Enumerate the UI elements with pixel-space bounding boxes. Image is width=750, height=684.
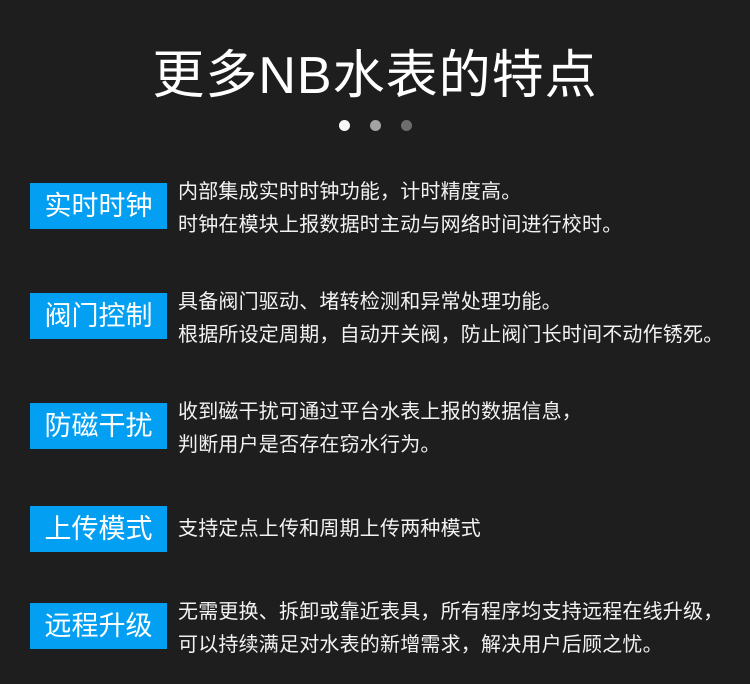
page-title: 更多NB水表的特点 — [0, 0, 750, 107]
feature-description: 收到磁干扰可通过平台水表上报的数据信息， 判断用户是否存在窃水行为。 — [178, 396, 750, 462]
feature-description-line: 时钟在模块上报数据时主动与网络时间进行校时。 — [178, 209, 750, 242]
feature-row: 远程升级 无需更换、拆卸或靠近表具，所有程序均支持远程在线升级， 可以持续满足对… — [0, 596, 750, 662]
carousel-dot-1[interactable] — [339, 120, 350, 131]
feature-badge-anti-magnetic[interactable]: 防磁干扰 — [30, 403, 167, 449]
feature-list: 实时时钟 内部集成实时时钟功能，计时精度高。 时钟在模块上报数据时主动与网络时间… — [0, 176, 750, 662]
feature-row: 实时时钟 内部集成实时时钟功能，计时精度高。 时钟在模块上报数据时主动与网络时间… — [0, 176, 750, 242]
feature-description-line: 判断用户是否存在窃水行为。 — [178, 429, 750, 462]
feature-row: 阀门控制 具备阀门驱动、堵转检测和异常处理功能。 根据所设定周期，自动开关阀，防… — [0, 286, 750, 352]
feature-description: 支持定点上传和周期上传两种模式 — [178, 506, 750, 546]
feature-description-line: 无需更换、拆卸或靠近表具，所有程序均支持远程在线升级， — [178, 596, 750, 629]
carousel-dots[interactable] — [0, 120, 750, 131]
feature-badge-upload-mode[interactable]: 上传模式 — [30, 506, 167, 552]
feature-badge-realtime-clock[interactable]: 实时时钟 — [30, 183, 167, 229]
feature-badge-valve-control[interactable]: 阀门控制 — [30, 293, 167, 339]
feature-description-line: 支持定点上传和周期上传两种模式 — [178, 513, 750, 546]
feature-description: 具备阀门驱动、堵转检测和异常处理功能。 根据所设定周期，自动开关阀，防止阀门长时… — [178, 286, 750, 352]
carousel-dot-3[interactable] — [401, 120, 412, 131]
feature-description: 无需更换、拆卸或靠近表具，所有程序均支持远程在线升级， 可以持续满足对水表的新增… — [178, 596, 750, 662]
feature-description-line: 内部集成实时时钟功能，计时精度高。 — [178, 176, 750, 209]
feature-badge-remote-upgrade[interactable]: 远程升级 — [30, 603, 167, 649]
feature-row: 防磁干扰 收到磁干扰可通过平台水表上报的数据信息， 判断用户是否存在窃水行为。 — [0, 396, 750, 462]
carousel-dot-2[interactable] — [370, 120, 381, 131]
feature-highlight-page: 更多NB水表的特点 实时时钟 内部集成实时时钟功能，计时精度高。 时钟在模块上报… — [0, 0, 750, 684]
feature-row: 上传模式 支持定点上传和周期上传两种模式 — [0, 506, 750, 552]
feature-description-line: 根据所设定周期，自动开关阀，防止阀门长时间不动作锈死。 — [178, 319, 750, 352]
feature-description: 内部集成实时时钟功能，计时精度高。 时钟在模块上报数据时主动与网络时间进行校时。 — [178, 176, 750, 242]
feature-description-line: 具备阀门驱动、堵转检测和异常处理功能。 — [178, 286, 750, 319]
feature-description-line: 可以持续满足对水表的新增需求，解决用户后顾之忧。 — [178, 629, 750, 662]
feature-description-line: 收到磁干扰可通过平台水表上报的数据信息， — [178, 396, 750, 429]
page-header: 更多NB水表的特点 — [0, 0, 750, 131]
